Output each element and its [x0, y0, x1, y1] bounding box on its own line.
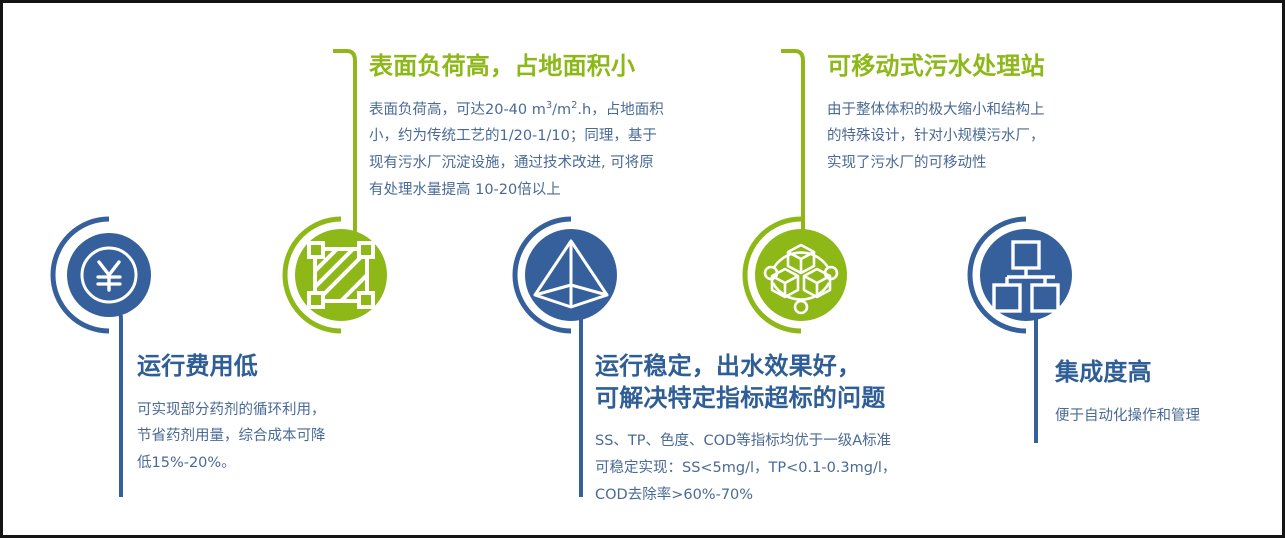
feature-block-surface-load: 表面负荷高，占地面积小 表面负荷高，可达20-40 m3/m2.h，占地面积 小… — [369, 51, 717, 204]
feature-body-surface-load: 表面负荷高，可达20-40 m3/m2.h，占地面积 小，约为传统工艺的1/20… — [369, 97, 717, 204]
icon-medallion-integration[interactable] — [964, 215, 1084, 335]
feature-title-stable-operation: 运行稳定，出水效果好， 可解决特定指标超标的问题 — [595, 351, 955, 414]
feature-title-operating-cost: 运行费用低 — [137, 351, 397, 383]
icon-medallion-surface-load[interactable] — [279, 215, 399, 335]
infographic-stage: 运行费用低 可实现部分药剂的循环利用， 节省药剂用量，综合成本可降 低15%-2… — [3, 3, 1285, 538]
icon-medallion-operating-cost[interactable] — [47, 215, 167, 335]
infographic-canvas: 运行费用低 可实现部分药剂的循环利用， 节省药剂用量，综合成本可降 低15%-2… — [0, 0, 1285, 538]
feature-body-mobile-station: 由于整体体积的极大缩小和结构上 的特殊设计，针对小规模污水厂， 实现了污水厂的可… — [827, 97, 1127, 177]
feature-block-stable-operation: 运行稳定，出水效果好， 可解决特定指标超标的问题 SS、TP、色度、COD等指标… — [595, 351, 955, 509]
feature-title-surface-load: 表面负荷高，占地面积小 — [369, 51, 717, 83]
feature-title-mobile-station: 可移动式污水处理站 — [827, 51, 1127, 83]
feature-block-mobile-station: 可移动式污水处理站 由于整体体积的极大缩小和结构上 的特殊设计，针对小规模污水厂… — [827, 51, 1127, 177]
feature-body-operating-cost: 可实现部分药剂的循环利用， 节省药剂用量，综合成本可降 低15%-20%。 — [137, 397, 397, 477]
feature-body-stable-operation: SS、TP、色度、COD等指标均优于一级A标准 可稳定实现：SS<5mg/l，T… — [595, 428, 955, 508]
feature-block-integration: 集成度高 便于自动化操作和管理 — [1055, 357, 1285, 429]
icon-medallion-stable-operation[interactable] — [509, 215, 629, 335]
feature-body-integration: 便于自动化操作和管理 — [1055, 403, 1285, 430]
icon-medallion-mobile-station[interactable] — [739, 215, 859, 335]
feature-title-integration: 集成度高 — [1055, 357, 1285, 389]
feature-block-operating-cost: 运行费用低 可实现部分药剂的循环利用， 节省药剂用量，综合成本可降 低15%-2… — [137, 351, 397, 477]
